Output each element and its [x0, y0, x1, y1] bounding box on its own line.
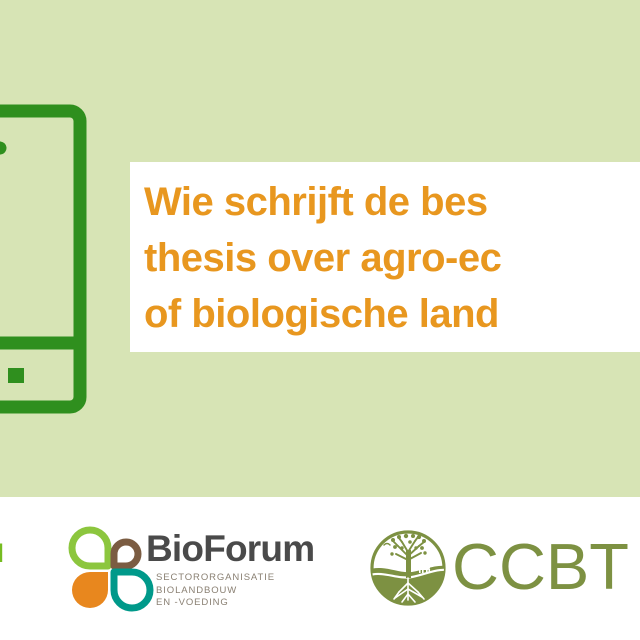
bioforum-tagline: SECTORORGANISATIE BIOLANDBOUW EN -VOEDIN…	[156, 572, 275, 610]
bioforum-logo: BioForum SECTORORGANISATIE BIOLANDBOUW E…	[68, 524, 348, 616]
poster-image: Wie schrijft de bes thesis over agro-ec …	[0, 0, 640, 640]
headline-line-3: of biologische land	[144, 286, 640, 342]
bioforum-tagline-line-1: SECTORORGANISATIE	[156, 572, 275, 585]
hero-panel: Wie schrijft de bes thesis over agro-ec …	[0, 0, 640, 497]
ccbt-wordmark: CCBT	[452, 532, 629, 602]
headline-block: Wie schrijft de bes thesis over agro-ec …	[130, 162, 640, 352]
graduation-thesis-card-icon	[0, 103, 88, 415]
partner-logo-cropped: EN	[0, 536, 26, 570]
bioforum-tagline-line-3: EN -VOEDING	[156, 597, 275, 610]
ccbt-tree-roots-cow-icon	[368, 528, 448, 608]
headline-line-2: thesis over agro-ec	[144, 230, 640, 286]
ccbt-logo: CCBT	[368, 524, 640, 616]
headline-line-1: Wie schrijft de bes	[144, 174, 640, 230]
bioforum-wordmark: BioForum	[146, 529, 314, 569]
bioforum-petals-icon	[68, 526, 154, 612]
bioforum-tagline-line-2: BIOLANDBOUW	[156, 585, 275, 598]
